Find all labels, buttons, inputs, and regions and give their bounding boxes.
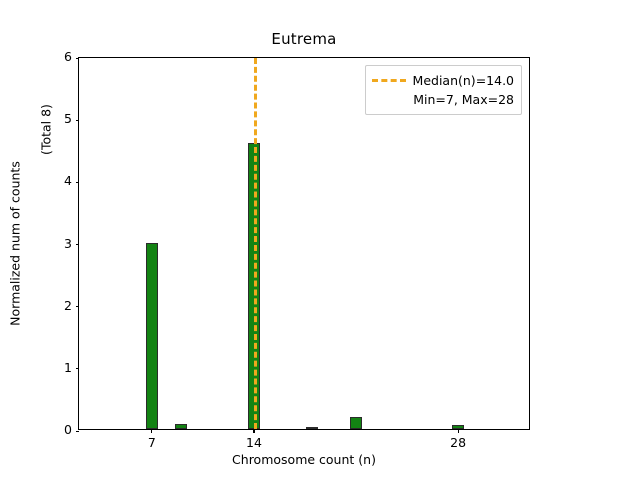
y-tick-mark — [76, 58, 80, 59]
y-tick-label: 2 — [64, 298, 72, 313]
x-tick-label: 28 — [428, 435, 488, 450]
y-tick-label: 5 — [64, 111, 72, 126]
chart-figure: Eutrema Normalized num of counts (Total … — [0, 0, 640, 480]
x-tick-mark — [151, 429, 152, 433]
legend-entry-median-label: Median(n)=14.0 — [413, 73, 514, 88]
y-tick-mark — [76, 120, 80, 121]
y-axis-label-group: Normalized num of counts — [0, 57, 30, 430]
y-tick-mark — [76, 306, 80, 307]
chart-title: Eutrema — [78, 30, 530, 48]
y-tick-label: 1 — [64, 360, 72, 375]
y-axis-total-label: (Total 8) — [39, 95, 54, 165]
plot-area: 0123456 71428 Median(n)=14.0 Min=7, Max=… — [78, 57, 530, 430]
x-tick-label: 7 — [122, 435, 182, 450]
y-axis-label: Normalized num of counts — [8, 133, 23, 353]
y-tick-mark — [76, 182, 80, 183]
x-tick-mark — [458, 429, 459, 433]
legend-entry-median: Median(n)=14.0 — [372, 71, 514, 90]
x-tick-mark — [253, 429, 254, 433]
y-tick-mark — [76, 368, 80, 369]
x-axis-label: Chromosome count (n) — [78, 452, 530, 467]
y-tick-mark — [76, 431, 80, 432]
y-tick-label: 4 — [64, 173, 72, 188]
y-tick-label: 3 — [64, 236, 72, 251]
y-tick-label: 6 — [64, 49, 72, 64]
y-tick-mark — [76, 244, 80, 245]
y-tick-label: 0 — [64, 422, 72, 437]
median-line — [254, 58, 257, 429]
legend-entry-minmax-label: Min=7, Max=28 — [372, 90, 514, 109]
x-tick-label: 14 — [224, 435, 284, 450]
chart-legend: Median(n)=14.0 Min=7, Max=28 — [365, 65, 522, 115]
dashed-line-icon — [372, 79, 406, 82]
